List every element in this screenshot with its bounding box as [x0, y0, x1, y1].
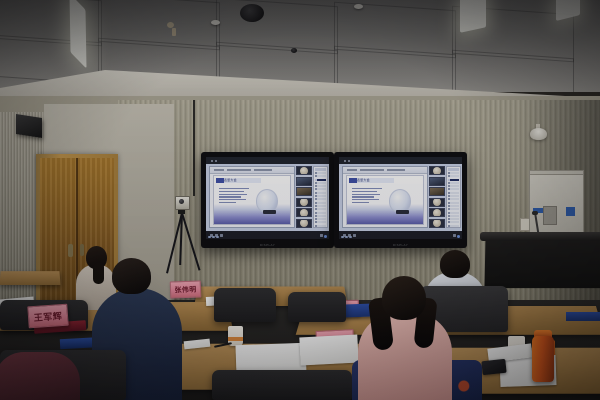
avatar	[300, 167, 308, 175]
participant-row[interactable]	[315, 215, 326, 217]
participant-row[interactable]	[448, 185, 459, 187]
participant-row[interactable]	[448, 195, 459, 197]
chair[interactable]	[214, 288, 276, 322]
slide-title-bar	[349, 178, 394, 183]
avatar	[300, 209, 308, 217]
avatar	[300, 198, 308, 206]
participant-video-tiles	[296, 166, 312, 228]
presentation-slide: 表彰大会	[213, 175, 291, 225]
document-toolbar	[343, 167, 427, 174]
slide-title: 表彰大会	[357, 178, 370, 182]
participant-row[interactable]	[315, 202, 326, 204]
attendee-man-navy-shirt-head	[112, 258, 151, 294]
microphone-icon[interactable]	[532, 211, 538, 215]
slide-title-bar	[216, 178, 261, 183]
display-brand-label: DISPLAY	[393, 243, 408, 247]
left-display[interactable]: 表彰大会	[201, 152, 334, 248]
participant-row[interactable]	[448, 202, 459, 204]
participant-row[interactable]	[315, 218, 326, 220]
participant-row[interactable]	[315, 225, 326, 227]
attendee-hair	[93, 262, 104, 284]
hanging-cable	[193, 100, 195, 196]
podium	[484, 236, 600, 288]
video-tile[interactable]	[296, 166, 312, 175]
participant-row[interactable]	[315, 185, 326, 187]
dome-camera-icon	[530, 128, 547, 140]
smoke-detector-2	[354, 4, 363, 9]
camera-lens-icon	[179, 199, 184, 204]
avatar	[433, 209, 441, 217]
ceiling-speaker-dome	[291, 48, 297, 53]
participant-row[interactable]	[448, 198, 459, 200]
participant-list-panel[interactable]	[313, 166, 328, 228]
chair[interactable]	[212, 370, 352, 400]
app-titlebar	[339, 157, 462, 164]
participant-row[interactable]	[448, 182, 459, 184]
podium-surface	[480, 232, 600, 241]
video-tile[interactable]	[296, 198, 312, 207]
participant-row[interactable]	[448, 175, 459, 177]
app-toolbar[interactable]	[206, 231, 329, 239]
participant-row[interactable]	[315, 175, 326, 177]
display-indicator-leds	[208, 236, 219, 239]
blue-folder	[566, 312, 600, 321]
name-placard: 王军辉	[27, 304, 68, 329]
app-titlebar	[206, 157, 329, 164]
participant-row[interactable]	[315, 198, 326, 200]
participant-row[interactable]	[448, 215, 459, 217]
shared-screen-area: 表彰大会	[342, 166, 428, 228]
participant-row[interactable]	[315, 212, 326, 214]
name-placard: 张伟明	[170, 280, 202, 298]
shared-screen-area: 表彰大会	[209, 166, 295, 228]
participant-row-selected[interactable]	[448, 179, 459, 181]
display-indicator-leds	[341, 236, 352, 239]
display-power-led	[457, 235, 460, 238]
video-tile[interactable]	[296, 219, 312, 228]
door-handle-icon[interactable]	[68, 244, 73, 257]
wall-speaker-icon	[16, 114, 42, 138]
video-tile[interactable]	[429, 198, 445, 207]
presentation-slide: 表彰大会	[346, 175, 424, 225]
document-toolbar	[210, 167, 294, 174]
cabinet-access-panel[interactable]	[543, 206, 557, 225]
video-tile[interactable]	[296, 177, 312, 186]
participant-row[interactable]	[448, 188, 459, 190]
left-display-screen: 表彰大会	[206, 157, 329, 239]
trophy-base	[263, 210, 276, 214]
video-tile[interactable]	[296, 187, 312, 196]
video-tile[interactable]	[429, 166, 445, 175]
app-body: 表彰大会	[339, 164, 462, 231]
participant-row[interactable]	[315, 208, 326, 210]
video-tile[interactable]	[296, 208, 312, 217]
sprinkler-head-2	[172, 28, 176, 36]
participant-list-header	[315, 168, 326, 171]
right-display-screen: 表彰大会	[339, 157, 462, 239]
avatar	[433, 198, 441, 206]
slide-title: 表彰大会	[224, 178, 237, 182]
door-handle-icon-2[interactable]	[80, 244, 84, 256]
video-tile[interactable]	[429, 208, 445, 217]
participant-row[interactable]	[448, 212, 459, 214]
display-power-led	[324, 235, 327, 238]
slide-text-lines	[219, 188, 251, 205]
participant-row[interactable]	[448, 208, 459, 210]
conference-room-photo: 表彰大会	[0, 0, 600, 400]
video-tile[interactable]	[429, 177, 445, 186]
attendee-foreground-partial	[0, 352, 80, 400]
video-tile[interactable]	[429, 219, 445, 228]
right-display[interactable]: 表彰大会	[334, 152, 467, 248]
app-body: 表彰大会	[206, 164, 329, 231]
app-toolbar[interactable]	[339, 231, 462, 239]
document-sheet	[299, 335, 358, 366]
participant-row[interactable]	[315, 205, 326, 207]
participant-row[interactable]	[315, 172, 326, 174]
participant-row[interactable]	[448, 225, 459, 227]
participant-row[interactable]	[448, 205, 459, 207]
attendee-man-white-shirt-head	[440, 250, 470, 278]
participant-row-selected[interactable]	[315, 179, 326, 181]
chair[interactable]	[288, 292, 346, 322]
avatar	[300, 219, 308, 227]
participant-list-header	[448, 168, 459, 171]
participant-row[interactable]	[448, 218, 459, 220]
display-brand-label: DISPLAY	[260, 243, 275, 247]
video-tile[interactable]	[429, 187, 445, 196]
participant-row[interactable]	[315, 192, 326, 194]
side-table	[0, 271, 61, 285]
water-bottle	[532, 336, 554, 382]
avatar	[433, 219, 441, 227]
trophy-base	[396, 210, 409, 214]
participant-row[interactable]	[315, 188, 326, 190]
smartphone[interactable]	[481, 359, 506, 375]
slide-text-lines	[352, 188, 384, 205]
participant-row[interactable]	[448, 172, 459, 174]
participant-video-tiles	[429, 166, 445, 228]
participant-row[interactable]	[315, 195, 326, 197]
participant-row[interactable]	[448, 192, 459, 194]
cabinet-label-right	[566, 207, 575, 216]
participant-row[interactable]	[448, 221, 459, 223]
avatar	[433, 167, 441, 175]
participant-row[interactable]	[315, 221, 326, 223]
ceiling-projector-dome	[240, 4, 264, 22]
participant-list-panel[interactable]	[446, 166, 461, 228]
attendee-woman-pink-top-head	[382, 276, 426, 320]
ceiling-light-panel-3	[556, 0, 580, 21]
participant-row[interactable]	[315, 182, 326, 184]
ceiling-light-panel-2	[460, 0, 486, 33]
smoke-detector	[211, 20, 220, 25]
